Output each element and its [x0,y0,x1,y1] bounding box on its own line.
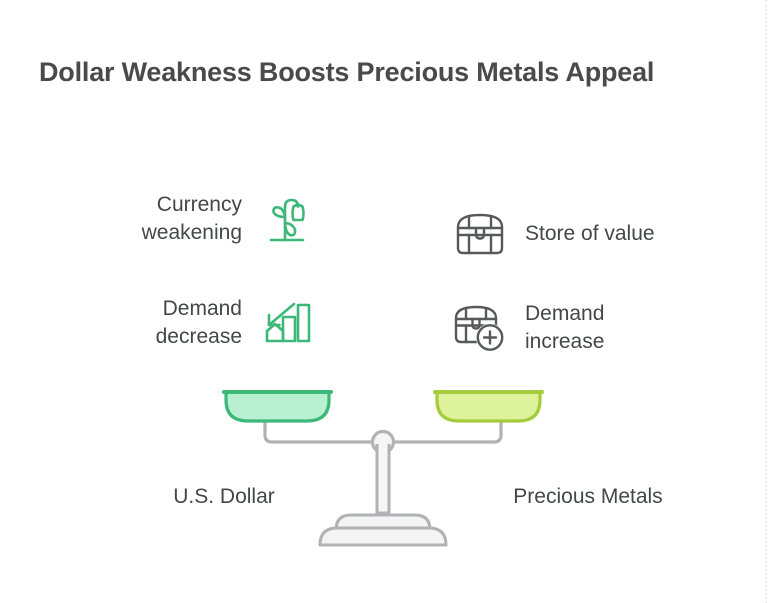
infographic-canvas: Dollar Weakness Boosts Precious Metals A… [0,0,772,603]
feature-label: Store of value [525,220,655,248]
feature-currency-weakening: Currency weakening [106,188,316,250]
feature-label: Demand increase [525,300,604,356]
feature-label: Demand decrease [156,295,242,351]
balance-scale [208,378,558,550]
treasure-chest-icon [449,203,511,265]
declining-bar-chart-icon [254,292,316,354]
label-precious-metals: Precious Metals [468,485,708,509]
scale-column [377,444,389,513]
feature-label: Currency weakening [142,191,242,247]
scale-base-foot [320,528,446,545]
feature-store-of-value: Store of value [449,203,655,265]
scale-pan-left [224,392,331,421]
feature-demand-decrease: Demand decrease [106,292,316,354]
wilting-plant-icon [254,188,316,250]
page-edge-guide-line [765,0,767,603]
label-us-dollar: U.S. Dollar [109,485,339,509]
scale-pan-right [435,392,542,421]
page-title: Dollar Weakness Boosts Precious Metals A… [39,56,739,88]
feature-demand-increase: Demand increase [449,297,604,359]
treasure-chest-plus-icon [449,297,511,359]
